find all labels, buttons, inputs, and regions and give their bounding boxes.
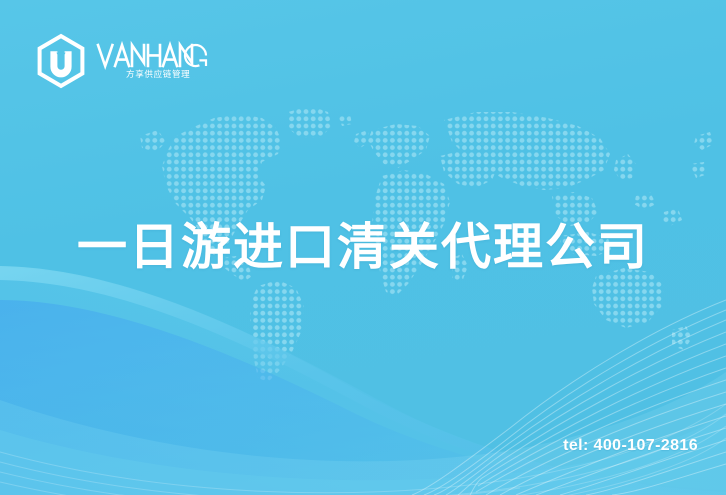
page-title: 一日游进口清关代理公司 [0,218,726,276]
logo-subtitle: 方享供应链管理 [126,68,190,80]
logo-wordmark-icon: 方享供应链管理 [96,39,208,83]
logo: 方享供应链管理 [34,32,208,90]
vanhang-hexagon-logo-icon [34,32,88,90]
promotional-banner: 方享供应链管理 一日游进口清关代理公司 tel: 400-107-2816 [0,0,726,495]
contact-phone: tel: 400-107-2816 [563,437,698,455]
